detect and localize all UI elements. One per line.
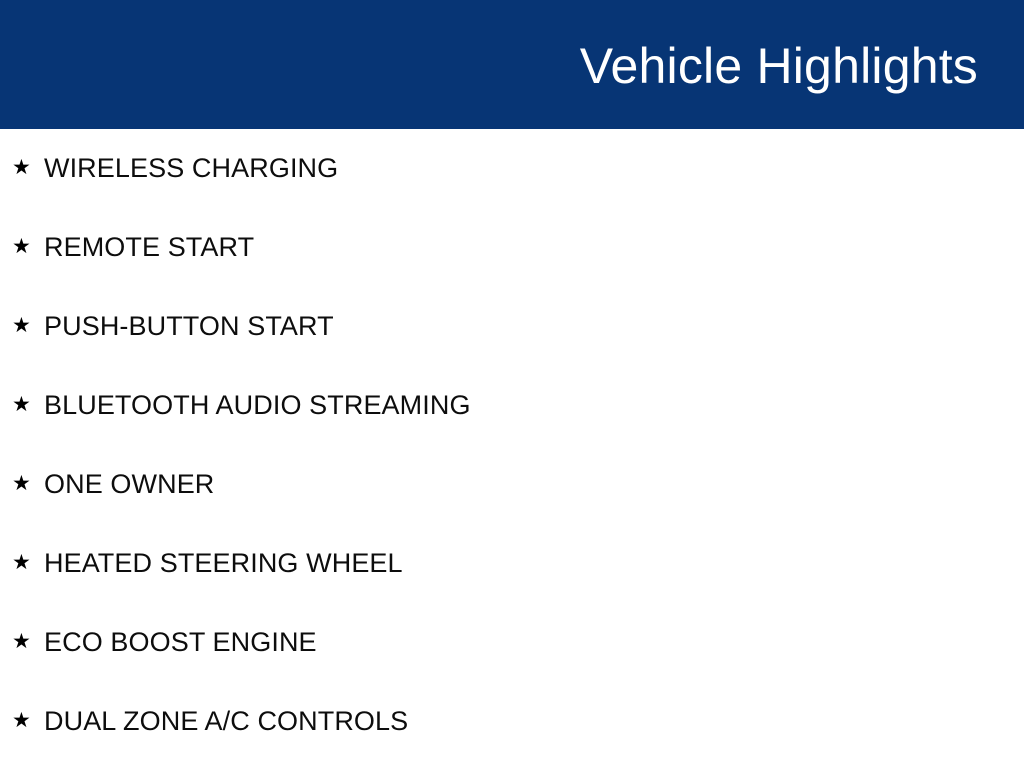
highlights-list: ★WIRELESS CHARGING★REMOTE START★PUSH-BUT…	[0, 129, 1024, 768]
star-icon: ★	[12, 552, 34, 573]
highlight-item-label: BLUETOOTH AUDIO STREAMING	[44, 392, 471, 419]
star-icon: ★	[12, 631, 34, 652]
star-icon: ★	[12, 236, 34, 257]
highlight-item: ★PUSH-BUTTON START	[0, 287, 1024, 366]
highlight-item-label: ONE OWNER	[44, 471, 214, 498]
page-title: Vehicle Highlights	[580, 41, 978, 91]
highlight-item: ★BLUETOOTH AUDIO STREAMING	[0, 366, 1024, 445]
highlight-item-label: WIRELESS CHARGING	[44, 155, 338, 182]
highlight-item-label: PUSH-BUTTON START	[44, 313, 334, 340]
vehicle-highlights-slide: Vehicle Highlights ★WIRELESS CHARGING★RE…	[0, 0, 1024, 768]
star-icon: ★	[12, 315, 34, 336]
highlight-item-label: REMOTE START	[44, 234, 254, 261]
highlight-item: ★DUAL ZONE A/C CONTROLS	[0, 682, 1024, 761]
highlight-item: ★ECO BOOST ENGINE	[0, 603, 1024, 682]
star-icon: ★	[12, 710, 34, 731]
highlight-item-label: HEATED STEERING WHEEL	[44, 550, 403, 577]
highlight-item-label: ECO BOOST ENGINE	[44, 629, 317, 656]
highlight-item: ★HEATED STEERING WHEEL	[0, 524, 1024, 603]
star-icon: ★	[12, 157, 34, 178]
highlight-item-label: DUAL ZONE A/C CONTROLS	[44, 708, 408, 735]
header-banner: Vehicle Highlights	[0, 0, 1024, 129]
highlight-item: ★ONE OWNER	[0, 445, 1024, 524]
star-icon: ★	[12, 394, 34, 415]
highlight-item: ★WIRELESS CHARGING	[0, 129, 1024, 208]
highlight-item: ★REMOTE START	[0, 208, 1024, 287]
star-icon: ★	[12, 473, 34, 494]
